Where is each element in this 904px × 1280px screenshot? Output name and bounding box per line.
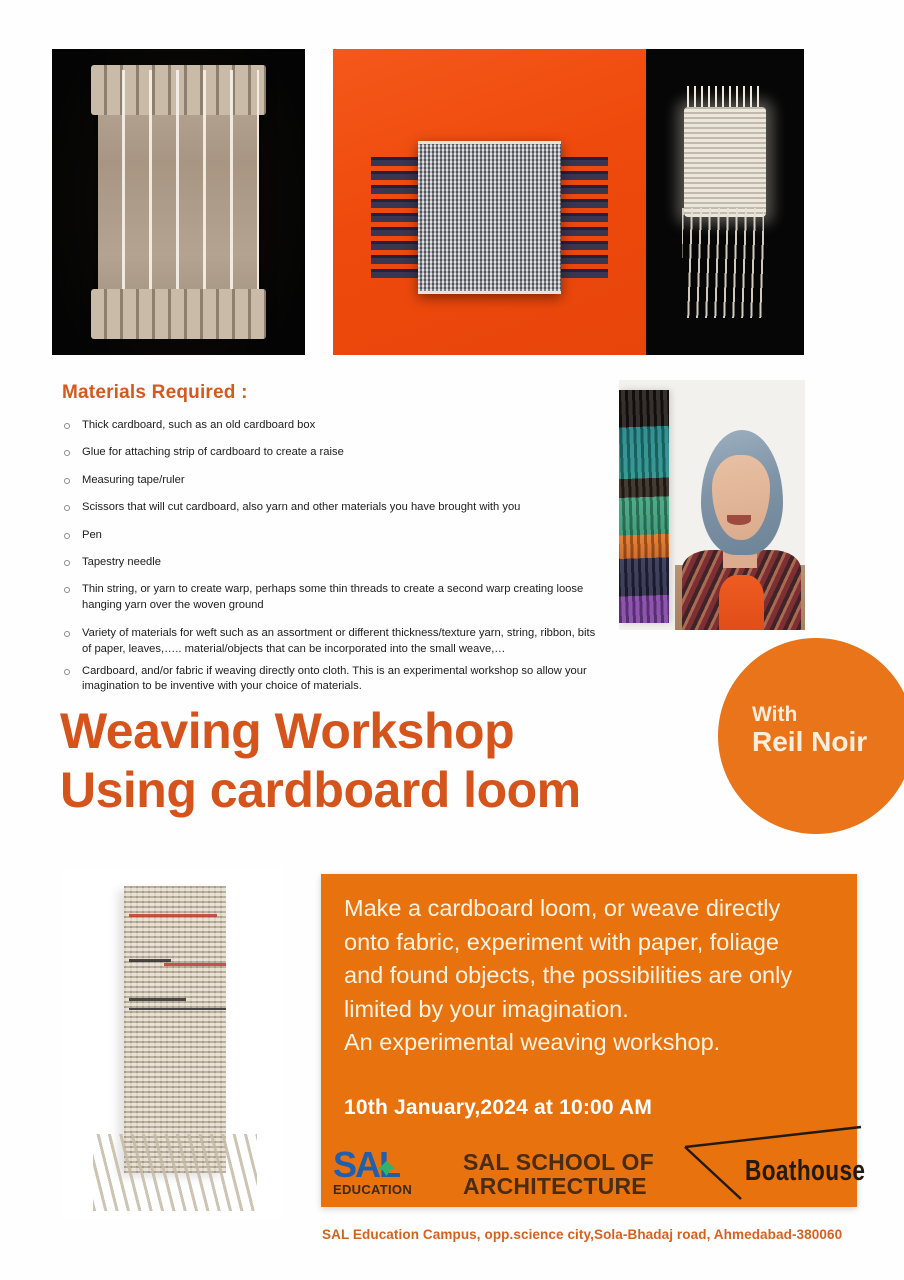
workshop-description-paragraph: Make a cardboard loom, or weave directly… bbox=[344, 895, 792, 1022]
list-item: Pen bbox=[62, 528, 602, 544]
portrait-smile-shape bbox=[727, 515, 751, 525]
presenter-with-label: With bbox=[752, 704, 797, 725]
list-item: Variety of materials for weft such as an… bbox=[62, 626, 602, 658]
boathouse-wordmark: Boathouse bbox=[745, 1155, 865, 1188]
sal-school-of-architecture-label: SAL SCHOOL OF ARCHITECTURE bbox=[463, 1150, 654, 1198]
sal-education-logo: SAL EDUCATION bbox=[333, 1149, 455, 1197]
hanging-black-stripe bbox=[129, 1008, 227, 1010]
logo-row: SAL EDUCATION SAL SCHOOL OF ARCHITECTURE… bbox=[333, 1135, 853, 1205]
hanging-woven-textile-photo bbox=[62, 868, 284, 1218]
hanging-cloth-shape bbox=[124, 886, 226, 1173]
cardboard-loom-photo bbox=[52, 49, 305, 355]
headline-line-1: Weaving Workshop bbox=[60, 703, 514, 759]
sal-school-line-1: SAL SCHOOL OF bbox=[463, 1150, 654, 1174]
hanging-black-stripe bbox=[129, 959, 171, 962]
white-weave-body-shape bbox=[684, 107, 766, 217]
presenter-badge: With Reil Noir bbox=[718, 638, 904, 834]
list-item: Thin string, or yarn to create warp, per… bbox=[62, 582, 602, 614]
list-item: Cardboard, and/or fabric if weaving dire… bbox=[62, 664, 602, 696]
presenter-portrait-photo bbox=[619, 380, 805, 630]
sal-school-line-2: ARCHITECTURE bbox=[463, 1174, 654, 1198]
loom-board-shape bbox=[98, 70, 260, 333]
hanging-tail-threads bbox=[93, 1134, 257, 1211]
hanging-black-stripe bbox=[129, 998, 187, 1001]
hanging-red-stripe bbox=[129, 914, 218, 917]
weave-pad-shape bbox=[418, 141, 562, 294]
list-item: Thick cardboard, such as an old cardboar… bbox=[62, 418, 602, 434]
portrait-shirt-shape bbox=[719, 575, 764, 630]
event-datetime: 10th January,2024 at 10:00 AM bbox=[344, 1096, 652, 1120]
woven-square-on-orange-photo bbox=[333, 49, 646, 355]
materials-list: Thick cardboard, such as an old cardboar… bbox=[62, 418, 602, 695]
poster-canvas: Materials Required : Thick cardboard, su… bbox=[0, 0, 904, 1280]
white-weave-tail-threads bbox=[682, 208, 764, 318]
page-title: Weaving Workshop Using cardboard loom bbox=[60, 702, 740, 819]
workshop-details-panel: Make a cardboard loom, or weave directly… bbox=[321, 874, 857, 1207]
presenter-name: Reil Noir bbox=[752, 728, 867, 756]
list-item: Measuring tape/ruler bbox=[62, 473, 602, 489]
hanging-red-stripe bbox=[164, 963, 226, 966]
workshop-description-sentence-2: An experimental weaving workshop. bbox=[344, 1026, 822, 1060]
portrait-background-artwork bbox=[619, 390, 669, 623]
sal-wordmark: SAL bbox=[333, 1149, 455, 1181]
loom-warp-threads bbox=[98, 70, 260, 333]
materials-section: Materials Required : Thick cardboard, su… bbox=[62, 382, 602, 701]
list-item: Glue for attaching strip of cardboard to… bbox=[62, 445, 602, 461]
boathouse-logo: Boathouse bbox=[683, 1125, 863, 1201]
workshop-description: Make a cardboard loom, or weave directly… bbox=[344, 892, 822, 1060]
materials-heading: Materials Required : bbox=[62, 382, 602, 404]
list-item: Tapestry needle bbox=[62, 555, 602, 571]
venue-address: SAL Education Campus, opp.science city,S… bbox=[322, 1227, 842, 1242]
white-fibre-weaving-photo bbox=[646, 49, 804, 355]
list-item: Scissors that will cut cardboard, also y… bbox=[62, 500, 602, 516]
headline-line-2: Using cardboard loom bbox=[60, 761, 740, 820]
